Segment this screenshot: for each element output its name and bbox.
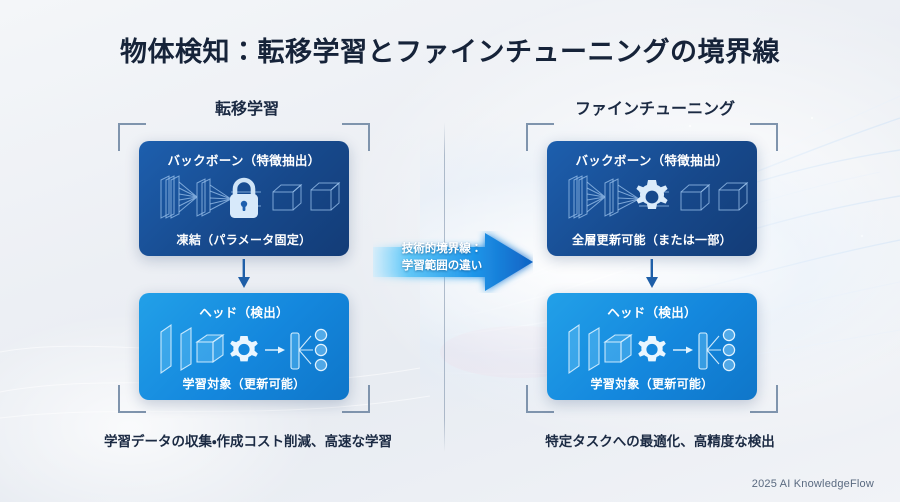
card-finetune-backbone[interactable]: バックボーン（特徴抽出） 全 — [547, 141, 757, 256]
column-footer-transfer-learning: 学習データの収集・作成コスト削減、高速な学習 — [88, 430, 408, 450]
cnn-gear-illustration — [547, 168, 757, 230]
head-gear-illustration — [139, 320, 349, 382]
gear-icon — [638, 336, 666, 361]
card-subtitle: 全層更新可能（または一部） — [547, 231, 757, 248]
page-title: 物体検知：転移学習とファインチューニングの境界線 — [0, 30, 900, 69]
boundary-arrow — [373, 231, 533, 293]
card-title: ヘッド（検出） — [547, 302, 757, 321]
card-title: バックボーン（特徴抽出） — [139, 150, 349, 169]
gear-icon — [230, 336, 258, 361]
card-subtitle: 学習対象（更新可能） — [547, 375, 757, 392]
slide-canvas: 物体検知：転移学習とファインチューニングの境界線 転移学習 ファインチューニング… — [0, 0, 900, 502]
flow-arrow-down-right — [645, 259, 659, 289]
gear-icon — [636, 180, 667, 209]
card-finetune-head[interactable]: ヘッド（検出） — [547, 293, 757, 400]
credit-text: 2025 AI KnowledgeFlow — [752, 478, 874, 490]
cnn-lock-illustration — [139, 168, 349, 230]
column-header-transfer-learning: 転移学習 — [122, 95, 372, 119]
card-subtitle: 学習対象（更新可能） — [139, 375, 349, 392]
column-header-fine-tuning: ファインチューニング — [530, 95, 780, 119]
card-transfer-backbone[interactable]: バックボーン（特徴抽出） — [139, 141, 349, 256]
flow-arrow-down-left — [237, 259, 251, 289]
card-subtitle: 凍結（パラメータ固定） — [139, 231, 349, 248]
head-gear-illustration — [547, 320, 757, 382]
column-footer-fine-tuning: 特定タスクへの最適化、高精度な検出 — [500, 430, 820, 450]
card-transfer-head[interactable]: ヘッド（検出） — [139, 293, 349, 400]
card-title: ヘッド（検出） — [139, 302, 349, 321]
card-title: バックボーン（特徴抽出） — [547, 150, 757, 169]
lock-icon — [230, 180, 258, 218]
